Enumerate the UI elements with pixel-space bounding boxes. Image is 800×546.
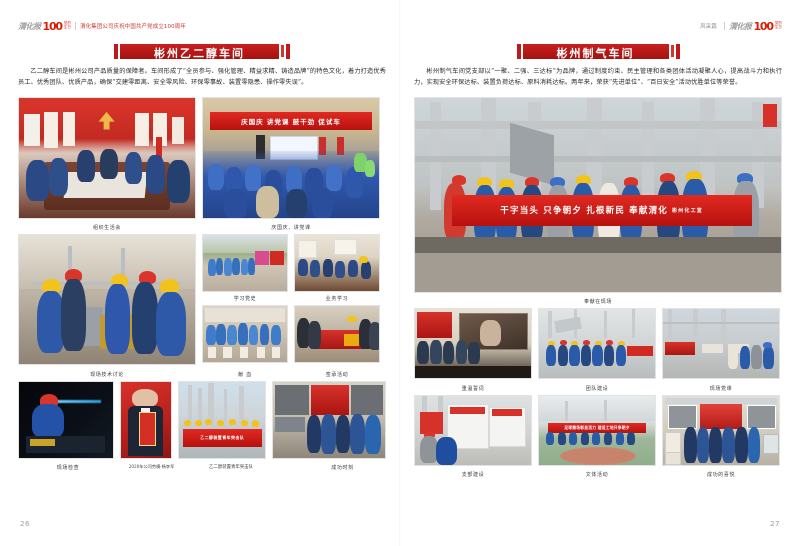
banner-tick-right-inner (281, 45, 284, 57)
section-label: 风采篇 (700, 22, 717, 30)
photo-cell-youth-team: 乙二醇装置青年突击队 (178, 381, 266, 459)
photo-sports-activity: 足球赛场彰显活力 建设工地只争朝夕 (538, 395, 656, 466)
left-running-head: 渭化报 100 党的 生日 渭化集团公司庆祝中国共产党成立100周年 (18, 18, 386, 34)
photo-branch-building (414, 395, 532, 466)
photo-group-right: 学习党史 业务学习 (202, 234, 380, 365)
left-row-1: 庆国庆 讲党课 鼓干劲 促试车 (18, 97, 386, 219)
photo-cell-blood-donation (202, 305, 288, 363)
photo-oath (414, 308, 532, 379)
banner-tick-right-right-page (676, 44, 680, 59)
caption-team-building: 团队建设 (538, 382, 656, 395)
photo-business-study (294, 234, 380, 292)
caption-branch-building: 支部建设 (414, 469, 532, 482)
photo-cell-site-inspection (18, 381, 114, 459)
caption-blood-donation: 献 血 (202, 368, 288, 381)
publication-logo: 渭化报 100 党的 生日 (18, 21, 71, 32)
photo-cell-party-history (202, 234, 288, 292)
running-head-divider-right (724, 22, 725, 30)
logo-wordmark: 渭化报 (18, 21, 41, 32)
photo-team-building (538, 308, 656, 379)
banner-tick-left-right-page (517, 44, 521, 59)
photo-blood-donation (202, 305, 288, 363)
right-page-number: 27 (770, 520, 780, 528)
right-row-hero: 干字当头 只争朝夕 扎根新民 奉献渭化 彬州化工宣 (414, 97, 782, 293)
left-photo-grid: 庆国庆 讲党课 鼓干劲 促试车 (18, 97, 386, 475)
photo-youth-team: 乙二醇装置青年突击队 (178, 381, 266, 459)
left-caption-row-2a: 学习党史 业务学习 (202, 292, 380, 305)
right-caption-row-2: 重温誓词 团队建设 现场党课 (414, 382, 782, 395)
left-section-title: 彬州乙二醇车间 (120, 44, 279, 59)
photo-cell-celebration (662, 395, 780, 466)
photo-party-lecture: 庆国庆 讲党课 鼓干劲 促试车 (202, 97, 380, 219)
magazine-spread: 渭化报 100 党的 生日 渭化集团公司庆祝中国共产党成立100周年 彬州乙二醇… (0, 0, 800, 546)
left-caption-row-2b: 现场技术讨论 献 血 签承活动 (18, 368, 386, 381)
caption-organizational-life: 组织生活会 (18, 222, 196, 235)
caption-party-lecture: 庆国庆、讲党课 (202, 222, 380, 235)
photo-cell-success-moment (272, 381, 386, 459)
left-page: 渭化报 100 党的 生日 渭化集团公司庆祝中国共产党成立100周年 彬州乙二醇… (0, 0, 400, 546)
photo-cell-dedication-site: 干字当头 只争朝夕 扎根新民 奉献渭化 彬州化工宣 (414, 97, 782, 293)
photo-party-history (202, 234, 288, 292)
banner-tick-left (114, 44, 118, 59)
photo-field-party-class (662, 308, 780, 379)
publication-logo-right: 渭化报 100 党的 生日 (729, 21, 782, 32)
left-caption-row-3: 现场检查 2020年公司劳模-杨李军 乙二醇装置青年突击队 成功时刻 (18, 462, 386, 475)
hero-banner-signature: 彬州化工宣 (672, 207, 703, 214)
photo-cell-business-study (294, 234, 380, 292)
caption-field-party-class: 现场党课 (662, 382, 780, 395)
right-banner-wrap: 彬州制气车间 (414, 42, 782, 60)
photo-cell-team-building (538, 308, 656, 379)
right-section-title: 彬州制气车间 (523, 44, 669, 59)
caption-celebration: 成功的喜悦 (662, 469, 780, 482)
logo-sub-line2: 生日 (64, 25, 71, 29)
right-running-head: 风采篇 渭化报 100 党的 生日 (414, 18, 782, 34)
photo-cell-branch-building (414, 395, 532, 466)
logo-100-icon-right: 100 (753, 21, 772, 32)
banner-tick-inner-right-page (671, 45, 674, 57)
caption-signing: 签承活动 (294, 368, 380, 381)
right-caption-row-3: 支部建设 文体活动 成功的喜悦 (414, 469, 782, 482)
left-row-3: 乙二醇装置青年突击队 (18, 381, 386, 459)
caption-success-moment: 成功时刻 (283, 462, 402, 475)
caption-field-discussion: 现场技术讨论 (18, 368, 196, 381)
banner-tick-right (286, 44, 290, 59)
photo-organizational-life (18, 97, 196, 219)
right-photo-grid: 干字当头 只争朝夕 扎根新民 奉献渭化 彬州化工宣 奉献在现场 (414, 97, 782, 482)
photo-cell-sports-activity: 足球赛场彰显活力 建设工地只争朝夕 (538, 395, 656, 466)
photo-model-worker (120, 381, 173, 459)
photo-field-discussion (18, 234, 196, 365)
photo-cell-field-party-class (662, 308, 780, 379)
caption-youth-team: 乙二醇装置青年突击队 (185, 462, 277, 475)
left-page-number: 26 (20, 520, 30, 528)
right-row-3: 足球赛场彰显活力 建设工地只争朝夕 (414, 395, 782, 466)
photo-cell-organizational-life (18, 97, 196, 219)
running-head-text: 渭化集团公司庆祝中国共产党成立100周年 (80, 22, 186, 30)
left-row-2: 学习党史 业务学习 (18, 234, 386, 365)
logo-100-icon: 100 (43, 21, 62, 32)
right-row-2 (414, 308, 782, 379)
photo-cell-field-discussion (18, 234, 196, 365)
right-body-text: 彬州制气车间党支部以“一聚、二强、三达标”为品牌，通过制度约束、民主管理和各类团… (414, 67, 782, 89)
left-body-text: 乙二醇车间是彬州公司产品质量的保障者。车间形成了“全员参与、强化管理、精益求精、… (18, 67, 386, 89)
photo-success-moment (272, 381, 386, 459)
caption-party-history: 学习党史 (202, 292, 288, 305)
left-banner-wrap: 彬州乙二醇车间 (18, 42, 386, 60)
caption-site-inspection: 现场检查 (18, 462, 118, 475)
left-caption-row-1: 组织生活会 庆国庆、讲党课 (18, 222, 386, 235)
caption-model-worker: 2020年公司劳模-杨李军 (124, 462, 179, 475)
photo-cell-model-worker (120, 381, 173, 459)
logo-sub: 党的 生日 (64, 22, 71, 29)
hero-banner-slogan: 干字当头 只争朝夕 扎根新民 奉献渭化 (500, 204, 668, 216)
caption-sports-activity: 文体活动 (538, 469, 656, 482)
photo-cell-party-lecture: 庆国庆 讲党课 鼓干劲 促试车 (202, 97, 380, 219)
logo-sub-line2-right: 生日 (775, 25, 782, 29)
photo-site-inspection (18, 381, 114, 459)
photo-cell-signing (294, 305, 380, 363)
caption-business-study: 业务学习 (294, 292, 380, 305)
right-caption-hero: 奉献在现场 (414, 296, 782, 309)
logo-wordmark-right: 渭化报 (729, 21, 752, 32)
running-head-divider (75, 22, 76, 30)
caption-oath: 重温誓词 (414, 382, 532, 395)
photo-dedication-site: 干字当头 只争朝夕 扎根新民 奉献渭化 彬州化工宣 (414, 97, 782, 293)
caption-dedication-site: 奉献在现场 (414, 296, 782, 309)
photo-cell-oath (414, 308, 532, 379)
logo-sub-right: 党的 生日 (775, 22, 782, 29)
right-page: 风采篇 渭化报 100 党的 生日 彬州制气车间 彬州制气车间党支部以“一聚、二… (400, 0, 800, 546)
photo-celebration (662, 395, 780, 466)
photo-signing (294, 305, 380, 363)
